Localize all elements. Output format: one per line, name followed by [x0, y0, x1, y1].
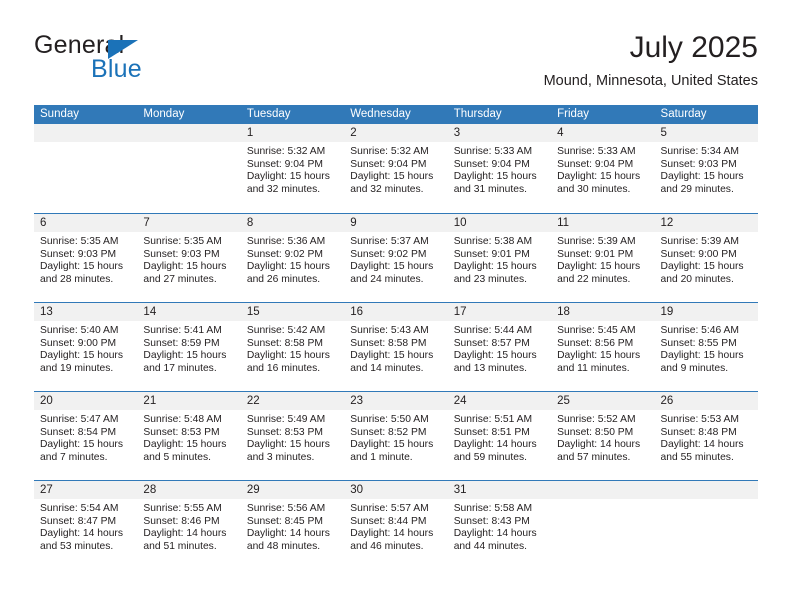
calendar-day-cell[interactable]: 25Sunrise: 5:52 AMSunset: 8:50 PMDayligh… [551, 392, 654, 480]
sunrise-time: Sunrise: 5:35 AM [143, 236, 234, 249]
day-number: 14 [137, 303, 240, 321]
day-number: 22 [241, 392, 344, 410]
sunset-time: Sunset: 8:48 PM [661, 427, 752, 440]
daylight-duration-line2: and 51 minutes. [143, 541, 234, 554]
title-block: July 2025 Mound, Minnesota, United State… [544, 30, 758, 90]
sunset-time: Sunset: 8:56 PM [557, 338, 648, 351]
calendar-day-cell[interactable]: 3Sunrise: 5:33 AMSunset: 9:04 PMDaylight… [448, 124, 551, 213]
calendar-day-cell-empty [655, 481, 758, 569]
sunrise-time: Sunrise: 5:48 AM [143, 414, 234, 427]
daylight-duration-line1: Daylight: 14 hours [557, 439, 648, 452]
sunrise-time: Sunrise: 5:50 AM [350, 414, 441, 427]
calendar-day-cell[interactable]: 11Sunrise: 5:39 AMSunset: 9:01 PMDayligh… [551, 214, 654, 302]
daylight-duration-line1: Daylight: 14 hours [454, 528, 545, 541]
day-sun-info: Sunrise: 5:48 AMSunset: 8:53 PMDaylight:… [137, 410, 240, 465]
sunset-time: Sunset: 8:46 PM [143, 516, 234, 529]
daylight-duration-line1: Daylight: 14 hours [661, 439, 752, 452]
calendar-day-cell[interactable]: 28Sunrise: 5:55 AMSunset: 8:46 PMDayligh… [137, 481, 240, 569]
calendar-day-cell[interactable]: 4Sunrise: 5:33 AMSunset: 9:04 PMDaylight… [551, 124, 654, 213]
daylight-duration-line2: and 24 minutes. [350, 274, 441, 287]
day-sun-info: Sunrise: 5:57 AMSunset: 8:44 PMDaylight:… [344, 499, 447, 554]
sunrise-time: Sunrise: 5:55 AM [143, 503, 234, 516]
calendar-day-cell[interactable]: 7Sunrise: 5:35 AMSunset: 9:03 PMDaylight… [137, 214, 240, 302]
page-title: July 2025 [544, 30, 758, 66]
sunset-time: Sunset: 9:00 PM [661, 249, 752, 262]
day-sun-info: Sunrise: 5:37 AMSunset: 9:02 PMDaylight:… [344, 232, 447, 287]
weekday-header-monday: Monday [137, 105, 240, 124]
calendar-day-cell[interactable]: 29Sunrise: 5:56 AMSunset: 8:45 PMDayligh… [241, 481, 344, 569]
sunset-time: Sunset: 9:04 PM [454, 159, 545, 172]
weekday-header-sunday: Sunday [34, 105, 137, 124]
day-number: 1 [241, 124, 344, 142]
daylight-duration-line2: and 16 minutes. [247, 363, 338, 376]
calendar-day-cell[interactable]: 18Sunrise: 5:45 AMSunset: 8:56 PMDayligh… [551, 303, 654, 391]
daylight-duration-line1: Daylight: 15 hours [350, 171, 441, 184]
day-sun-info: Sunrise: 5:35 AMSunset: 9:03 PMDaylight:… [137, 232, 240, 287]
day-sun-info: Sunrise: 5:51 AMSunset: 8:51 PMDaylight:… [448, 410, 551, 465]
daylight-duration-line2: and 13 minutes. [454, 363, 545, 376]
day-number: 5 [655, 124, 758, 142]
daylight-duration-line1: Daylight: 14 hours [350, 528, 441, 541]
calendar-day-cell[interactable]: 1Sunrise: 5:32 AMSunset: 9:04 PMDaylight… [241, 124, 344, 213]
calendar-week-row: 6Sunrise: 5:35 AMSunset: 9:03 PMDaylight… [34, 213, 758, 302]
daylight-duration-line1: Daylight: 15 hours [454, 171, 545, 184]
daylight-duration-line1: Daylight: 15 hours [143, 350, 234, 363]
sunrise-time: Sunrise: 5:46 AM [661, 325, 752, 338]
calendar-day-cell[interactable]: 20Sunrise: 5:47 AMSunset: 8:54 PMDayligh… [34, 392, 137, 480]
sunrise-time: Sunrise: 5:45 AM [557, 325, 648, 338]
sunset-time: Sunset: 9:01 PM [557, 249, 648, 262]
calendar-day-cell[interactable]: 5Sunrise: 5:34 AMSunset: 9:03 PMDaylight… [655, 124, 758, 213]
daylight-duration-line1: Daylight: 14 hours [40, 528, 131, 541]
calendar-day-cell[interactable]: 6Sunrise: 5:35 AMSunset: 9:03 PMDaylight… [34, 214, 137, 302]
daylight-duration-line1: Daylight: 15 hours [247, 171, 338, 184]
daylight-duration-line2: and 46 minutes. [350, 541, 441, 554]
sunset-time: Sunset: 9:03 PM [40, 249, 131, 262]
day-number: 13 [34, 303, 137, 321]
calendar-day-cell[interactable]: 30Sunrise: 5:57 AMSunset: 8:44 PMDayligh… [344, 481, 447, 569]
day-number: 16 [344, 303, 447, 321]
day-sun-info: Sunrise: 5:50 AMSunset: 8:52 PMDaylight:… [344, 410, 447, 465]
sunrise-time: Sunrise: 5:51 AM [454, 414, 545, 427]
day-number: 15 [241, 303, 344, 321]
daylight-duration-line2: and 5 minutes. [143, 452, 234, 465]
daylight-duration-line2: and 7 minutes. [40, 452, 131, 465]
calendar-day-cell[interactable]: 16Sunrise: 5:43 AMSunset: 8:58 PMDayligh… [344, 303, 447, 391]
sunrise-time: Sunrise: 5:58 AM [454, 503, 545, 516]
calendar-day-cell[interactable]: 24Sunrise: 5:51 AMSunset: 8:51 PMDayligh… [448, 392, 551, 480]
daylight-duration-line2: and 30 minutes. [557, 184, 648, 197]
calendar-day-cell[interactable]: 31Sunrise: 5:58 AMSunset: 8:43 PMDayligh… [448, 481, 551, 569]
day-number: 4 [551, 124, 654, 142]
daylight-duration-line1: Daylight: 15 hours [247, 350, 338, 363]
sunset-time: Sunset: 9:04 PM [247, 159, 338, 172]
page-header: General Blue July 2025 Mound, Minnesota,… [34, 30, 758, 92]
sunset-time: Sunset: 9:04 PM [557, 159, 648, 172]
day-number: 30 [344, 481, 447, 499]
sunrise-time: Sunrise: 5:52 AM [557, 414, 648, 427]
sunrise-time: Sunrise: 5:47 AM [40, 414, 131, 427]
daylight-duration-line2: and 3 minutes. [247, 452, 338, 465]
sunrise-time: Sunrise: 5:35 AM [40, 236, 131, 249]
day-sun-info: Sunrise: 5:49 AMSunset: 8:53 PMDaylight:… [241, 410, 344, 465]
daylight-duration-line2: and 55 minutes. [661, 452, 752, 465]
day-number: 21 [137, 392, 240, 410]
daylight-duration-line1: Daylight: 15 hours [40, 261, 131, 274]
sunrise-time: Sunrise: 5:33 AM [557, 146, 648, 159]
day-sun-info: Sunrise: 5:46 AMSunset: 8:55 PMDaylight:… [655, 321, 758, 376]
day-number: 10 [448, 214, 551, 232]
general-blue-logo[interactable]: General Blue [34, 32, 234, 88]
calendar-day-cell[interactable]: 22Sunrise: 5:49 AMSunset: 8:53 PMDayligh… [241, 392, 344, 480]
calendar-day-cell-empty [137, 124, 240, 213]
calendar-day-cell[interactable]: 23Sunrise: 5:50 AMSunset: 8:52 PMDayligh… [344, 392, 447, 480]
calendar-day-cell[interactable]: 2Sunrise: 5:32 AMSunset: 9:04 PMDaylight… [344, 124, 447, 213]
daylight-duration-line1: Daylight: 14 hours [454, 439, 545, 452]
sunset-time: Sunset: 8:58 PM [247, 338, 338, 351]
calendar-day-cell[interactable]: 27Sunrise: 5:54 AMSunset: 8:47 PMDayligh… [34, 481, 137, 569]
day-number [551, 481, 654, 499]
calendar-day-cell[interactable]: 8Sunrise: 5:36 AMSunset: 9:02 PMDaylight… [241, 214, 344, 302]
day-sun-info: Sunrise: 5:52 AMSunset: 8:50 PMDaylight:… [551, 410, 654, 465]
day-number: 25 [551, 392, 654, 410]
calendar-day-cell[interactable]: 14Sunrise: 5:41 AMSunset: 8:59 PMDayligh… [137, 303, 240, 391]
daylight-duration-line2: and 19 minutes. [40, 363, 131, 376]
day-number: 17 [448, 303, 551, 321]
daylight-duration-line1: Daylight: 15 hours [143, 439, 234, 452]
day-number: 6 [34, 214, 137, 232]
calendar-day-cell[interactable]: 9Sunrise: 5:37 AMSunset: 9:02 PMDaylight… [344, 214, 447, 302]
daylight-duration-line1: Daylight: 14 hours [247, 528, 338, 541]
sunset-time: Sunset: 8:58 PM [350, 338, 441, 351]
day-number: 12 [655, 214, 758, 232]
day-sun-info: Sunrise: 5:44 AMSunset: 8:57 PMDaylight:… [448, 321, 551, 376]
day-sun-info: Sunrise: 5:56 AMSunset: 8:45 PMDaylight:… [241, 499, 344, 554]
day-number: 20 [34, 392, 137, 410]
day-sun-info: Sunrise: 5:55 AMSunset: 8:46 PMDaylight:… [137, 499, 240, 554]
daylight-duration-line1: Daylight: 15 hours [454, 350, 545, 363]
sunset-time: Sunset: 8:45 PM [247, 516, 338, 529]
day-sun-info: Sunrise: 5:36 AMSunset: 9:02 PMDaylight:… [241, 232, 344, 287]
daylight-duration-line1: Daylight: 15 hours [454, 261, 545, 274]
sunset-time: Sunset: 9:00 PM [40, 338, 131, 351]
day-number [655, 481, 758, 499]
day-sun-info: Sunrise: 5:32 AMSunset: 9:04 PMDaylight:… [344, 142, 447, 197]
weekday-header-wednesday: Wednesday [344, 105, 447, 124]
daylight-duration-line2: and 31 minutes. [454, 184, 545, 197]
sunrise-time: Sunrise: 5:56 AM [247, 503, 338, 516]
day-sun-info: Sunrise: 5:33 AMSunset: 9:04 PMDaylight:… [448, 142, 551, 197]
calendar-day-cell[interactable]: 13Sunrise: 5:40 AMSunset: 9:00 PMDayligh… [34, 303, 137, 391]
sunset-time: Sunset: 9:01 PM [454, 249, 545, 262]
calendar-day-cell-empty [34, 124, 137, 213]
sunset-time: Sunset: 8:44 PM [350, 516, 441, 529]
calendar-day-cell[interactable]: 21Sunrise: 5:48 AMSunset: 8:53 PMDayligh… [137, 392, 240, 480]
sunrise-time: Sunrise: 5:32 AM [247, 146, 338, 159]
day-number: 23 [344, 392, 447, 410]
day-number: 9 [344, 214, 447, 232]
sunrise-time: Sunrise: 5:32 AM [350, 146, 441, 159]
calendar-day-cell-empty [551, 481, 654, 569]
sunset-time: Sunset: 8:53 PM [143, 427, 234, 440]
sunrise-time: Sunrise: 5:33 AM [454, 146, 545, 159]
sunrise-time: Sunrise: 5:38 AM [454, 236, 545, 249]
day-sun-info: Sunrise: 5:41 AMSunset: 8:59 PMDaylight:… [137, 321, 240, 376]
daylight-duration-line2: and 53 minutes. [40, 541, 131, 554]
daylight-duration-line1: Daylight: 14 hours [143, 528, 234, 541]
day-number: 26 [655, 392, 758, 410]
daylight-duration-line1: Daylight: 15 hours [661, 261, 752, 274]
sunset-time: Sunset: 9:02 PM [247, 249, 338, 262]
day-number: 29 [241, 481, 344, 499]
sunrise-time: Sunrise: 5:39 AM [661, 236, 752, 249]
day-number: 11 [551, 214, 654, 232]
daylight-duration-line2: and 57 minutes. [557, 452, 648, 465]
sunrise-time: Sunrise: 5:57 AM [350, 503, 441, 516]
day-sun-info: Sunrise: 5:40 AMSunset: 9:00 PMDaylight:… [34, 321, 137, 376]
day-sun-info: Sunrise: 5:33 AMSunset: 9:04 PMDaylight:… [551, 142, 654, 197]
day-number: 3 [448, 124, 551, 142]
day-number: 31 [448, 481, 551, 499]
day-sun-info: Sunrise: 5:54 AMSunset: 8:47 PMDaylight:… [34, 499, 137, 554]
sunrise-time: Sunrise: 5:39 AM [557, 236, 648, 249]
daylight-duration-line2: and 48 minutes. [247, 541, 338, 554]
sunset-time: Sunset: 8:52 PM [350, 427, 441, 440]
sunrise-time: Sunrise: 5:49 AM [247, 414, 338, 427]
calendar-page: General Blue July 2025 Mound, Minnesota,… [0, 0, 792, 612]
day-number: 7 [137, 214, 240, 232]
day-sun-info: Sunrise: 5:45 AMSunset: 8:56 PMDaylight:… [551, 321, 654, 376]
daylight-duration-line2: and 28 minutes. [40, 274, 131, 287]
calendar-week-row: 27Sunrise: 5:54 AMSunset: 8:47 PMDayligh… [34, 480, 758, 569]
day-number: 28 [137, 481, 240, 499]
sunrise-time: Sunrise: 5:53 AM [661, 414, 752, 427]
daylight-duration-line2: and 9 minutes. [661, 363, 752, 376]
sunset-time: Sunset: 8:43 PM [454, 516, 545, 529]
sunset-time: Sunset: 8:51 PM [454, 427, 545, 440]
weekday-header-saturday: Saturday [655, 105, 758, 124]
daylight-duration-line2: and 32 minutes. [350, 184, 441, 197]
daylight-duration-line1: Daylight: 15 hours [40, 350, 131, 363]
calendar-day-cell[interactable]: 17Sunrise: 5:44 AMSunset: 8:57 PMDayligh… [448, 303, 551, 391]
calendar-day-cell[interactable]: 12Sunrise: 5:39 AMSunset: 9:00 PMDayligh… [655, 214, 758, 302]
calendar-week-row: 1Sunrise: 5:32 AMSunset: 9:04 PMDaylight… [34, 124, 758, 213]
sunset-time: Sunset: 8:54 PM [40, 427, 131, 440]
daylight-duration-line1: Daylight: 15 hours [557, 350, 648, 363]
daylight-duration-line1: Daylight: 15 hours [350, 350, 441, 363]
sunset-time: Sunset: 8:47 PM [40, 516, 131, 529]
daylight-duration-line2: and 11 minutes. [557, 363, 648, 376]
daylight-duration-line1: Daylight: 15 hours [40, 439, 131, 452]
daylight-duration-line2: and 59 minutes. [454, 452, 545, 465]
day-sun-info: Sunrise: 5:53 AMSunset: 8:48 PMDaylight:… [655, 410, 758, 465]
sunrise-time: Sunrise: 5:40 AM [40, 325, 131, 338]
daylight-duration-line1: Daylight: 15 hours [143, 261, 234, 274]
calendar-day-cell[interactable]: 15Sunrise: 5:42 AMSunset: 8:58 PMDayligh… [241, 303, 344, 391]
daylight-duration-line2: and 22 minutes. [557, 274, 648, 287]
sunrise-time: Sunrise: 5:42 AM [247, 325, 338, 338]
sunrise-time: Sunrise: 5:41 AM [143, 325, 234, 338]
day-number [34, 124, 137, 142]
day-number: 27 [34, 481, 137, 499]
sunset-time: Sunset: 9:03 PM [661, 159, 752, 172]
sunset-time: Sunset: 8:59 PM [143, 338, 234, 351]
daylight-duration-line2: and 14 minutes. [350, 363, 441, 376]
weekday-header-tuesday: Tuesday [241, 105, 344, 124]
daylight-duration-line2: and 29 minutes. [661, 184, 752, 197]
weekday-header-row: SundayMondayTuesdayWednesdayThursdayFrid… [34, 105, 758, 124]
daylight-duration-line1: Daylight: 15 hours [247, 261, 338, 274]
calendar-grid: SundayMondayTuesdayWednesdayThursdayFrid… [34, 105, 758, 569]
daylight-duration-line1: Daylight: 15 hours [247, 439, 338, 452]
page-subtitle-location: Mound, Minnesota, United States [544, 73, 758, 90]
daylight-duration-line2: and 44 minutes. [454, 541, 545, 554]
sunset-time: Sunset: 8:55 PM [661, 338, 752, 351]
logo-text-blue: Blue [91, 56, 142, 83]
day-number: 24 [448, 392, 551, 410]
day-sun-info: Sunrise: 5:35 AMSunset: 9:03 PMDaylight:… [34, 232, 137, 287]
sunset-time: Sunset: 9:04 PM [350, 159, 441, 172]
calendar-week-row: 13Sunrise: 5:40 AMSunset: 9:00 PMDayligh… [34, 302, 758, 391]
weekday-header-thursday: Thursday [448, 105, 551, 124]
sunset-time: Sunset: 8:53 PM [247, 427, 338, 440]
daylight-duration-line1: Daylight: 15 hours [557, 171, 648, 184]
day-sun-info: Sunrise: 5:32 AMSunset: 9:04 PMDaylight:… [241, 142, 344, 197]
day-sun-info: Sunrise: 5:58 AMSunset: 8:43 PMDaylight:… [448, 499, 551, 554]
sunset-time: Sunset: 8:50 PM [557, 427, 648, 440]
daylight-duration-line1: Daylight: 15 hours [350, 439, 441, 452]
calendar-day-cell[interactable]: 19Sunrise: 5:46 AMSunset: 8:55 PMDayligh… [655, 303, 758, 391]
sunrise-time: Sunrise: 5:36 AM [247, 236, 338, 249]
daylight-duration-line2: and 1 minute. [350, 452, 441, 465]
sunset-time: Sunset: 9:02 PM [350, 249, 441, 262]
day-sun-info: Sunrise: 5:34 AMSunset: 9:03 PMDaylight:… [655, 142, 758, 197]
calendar-day-cell[interactable]: 26Sunrise: 5:53 AMSunset: 8:48 PMDayligh… [655, 392, 758, 480]
sunrise-time: Sunrise: 5:43 AM [350, 325, 441, 338]
sunrise-time: Sunrise: 5:37 AM [350, 236, 441, 249]
daylight-duration-line1: Daylight: 15 hours [661, 171, 752, 184]
sunrise-time: Sunrise: 5:34 AM [661, 146, 752, 159]
sunset-time: Sunset: 9:03 PM [143, 249, 234, 262]
weekday-header-friday: Friday [551, 105, 654, 124]
day-number: 2 [344, 124, 447, 142]
day-sun-info: Sunrise: 5:39 AMSunset: 9:01 PMDaylight:… [551, 232, 654, 287]
day-number: 19 [655, 303, 758, 321]
daylight-duration-line1: Daylight: 15 hours [557, 261, 648, 274]
day-sun-info: Sunrise: 5:42 AMSunset: 8:58 PMDaylight:… [241, 321, 344, 376]
day-sun-info: Sunrise: 5:38 AMSunset: 9:01 PMDaylight:… [448, 232, 551, 287]
calendar-body: 1Sunrise: 5:32 AMSunset: 9:04 PMDaylight… [34, 124, 758, 569]
day-sun-info: Sunrise: 5:47 AMSunset: 8:54 PMDaylight:… [34, 410, 137, 465]
day-sun-info: Sunrise: 5:43 AMSunset: 8:58 PMDaylight:… [344, 321, 447, 376]
sunset-time: Sunset: 8:57 PM [454, 338, 545, 351]
calendar-week-row: 20Sunrise: 5:47 AMSunset: 8:54 PMDayligh… [34, 391, 758, 480]
daylight-duration-line2: and 27 minutes. [143, 274, 234, 287]
sunrise-time: Sunrise: 5:54 AM [40, 503, 131, 516]
sunrise-time: Sunrise: 5:44 AM [454, 325, 545, 338]
day-sun-info: Sunrise: 5:39 AMSunset: 9:00 PMDaylight:… [655, 232, 758, 287]
daylight-duration-line1: Daylight: 15 hours [661, 350, 752, 363]
daylight-duration-line2: and 32 minutes. [247, 184, 338, 197]
daylight-duration-line2: and 17 minutes. [143, 363, 234, 376]
daylight-duration-line2: and 26 minutes. [247, 274, 338, 287]
day-number: 8 [241, 214, 344, 232]
day-number: 18 [551, 303, 654, 321]
daylight-duration-line1: Daylight: 15 hours [350, 261, 441, 274]
calendar-day-cell[interactable]: 10Sunrise: 5:38 AMSunset: 9:01 PMDayligh… [448, 214, 551, 302]
daylight-duration-line2: and 23 minutes. [454, 274, 545, 287]
day-number [137, 124, 240, 142]
daylight-duration-line2: and 20 minutes. [661, 274, 752, 287]
